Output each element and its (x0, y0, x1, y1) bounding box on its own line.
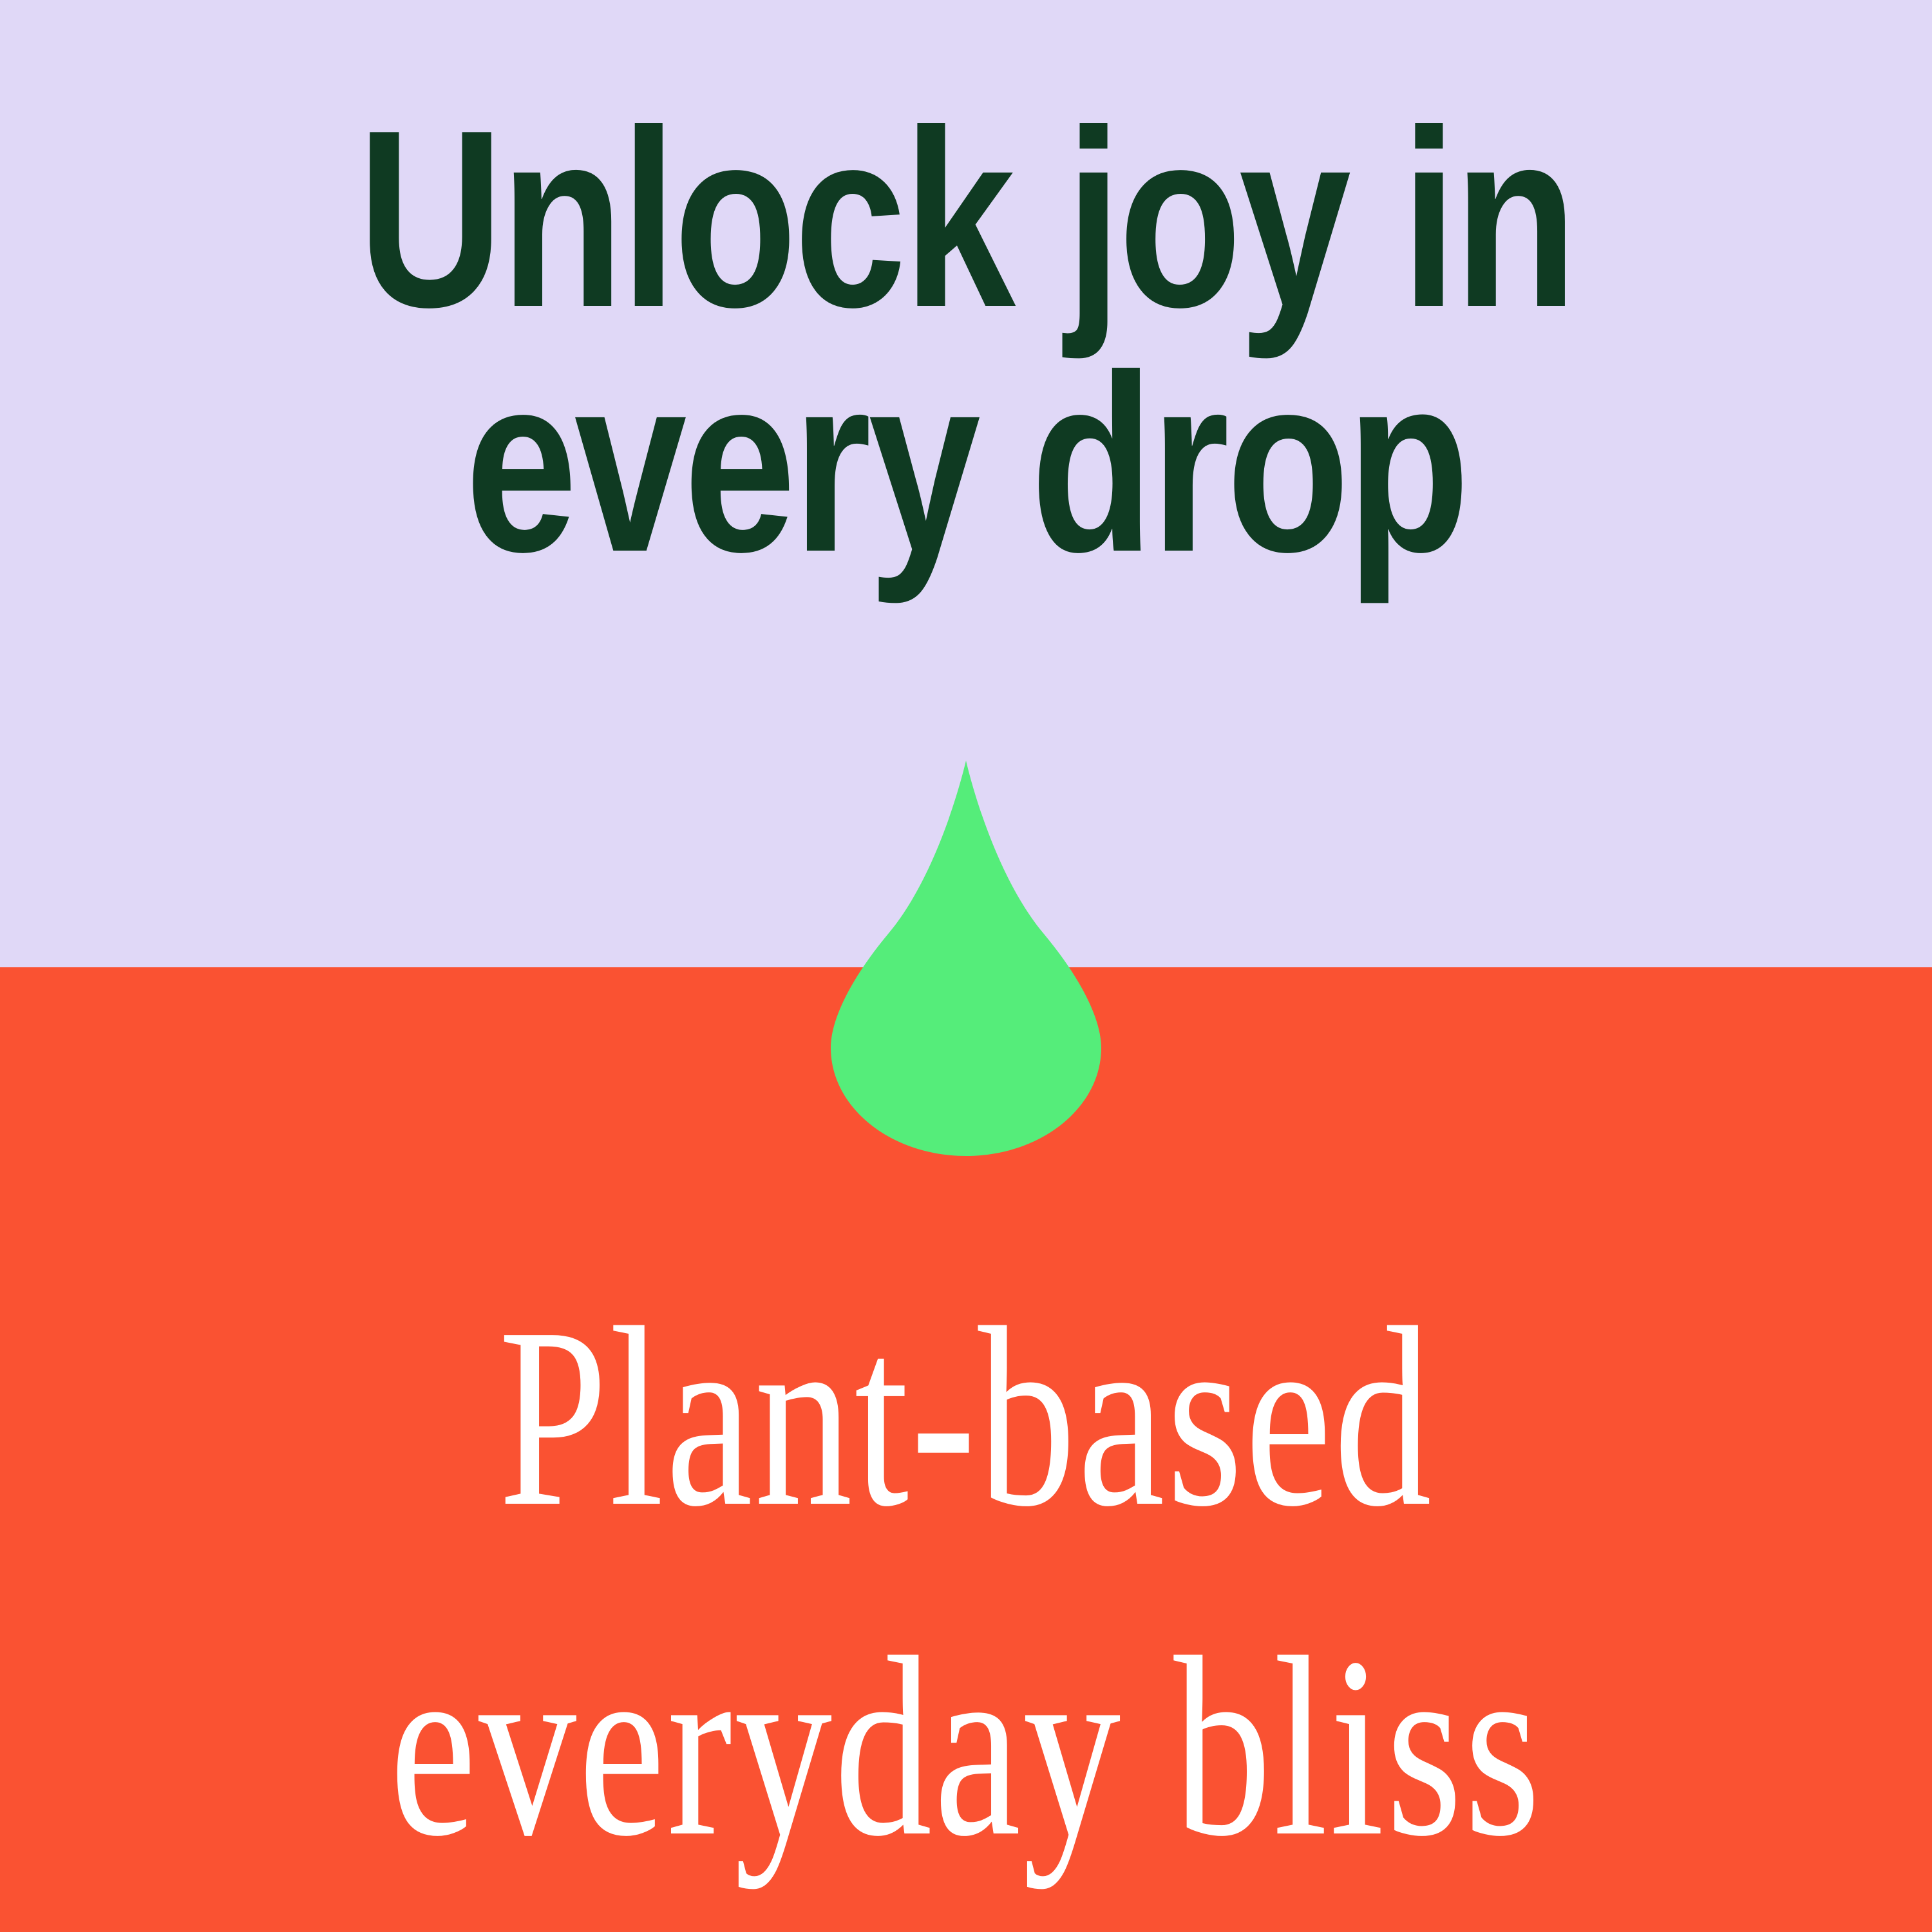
subheadline-line-1: Plant-based (232, 1253, 1700, 1582)
water-drop-icon (831, 761, 1101, 1156)
headline-line-2: every drop (193, 341, 1739, 586)
subheadline-line-2: everyday bliss (232, 1582, 1700, 1912)
subheadline: Plant-based everyday bliss (0, 1253, 1932, 1912)
headline: Unlock joy in every drop (193, 97, 1739, 586)
promo-poster: Unlock joy in every drop Plant-based eve… (0, 0, 1932, 1932)
headline-line-1: Unlock joy in (193, 97, 1739, 341)
